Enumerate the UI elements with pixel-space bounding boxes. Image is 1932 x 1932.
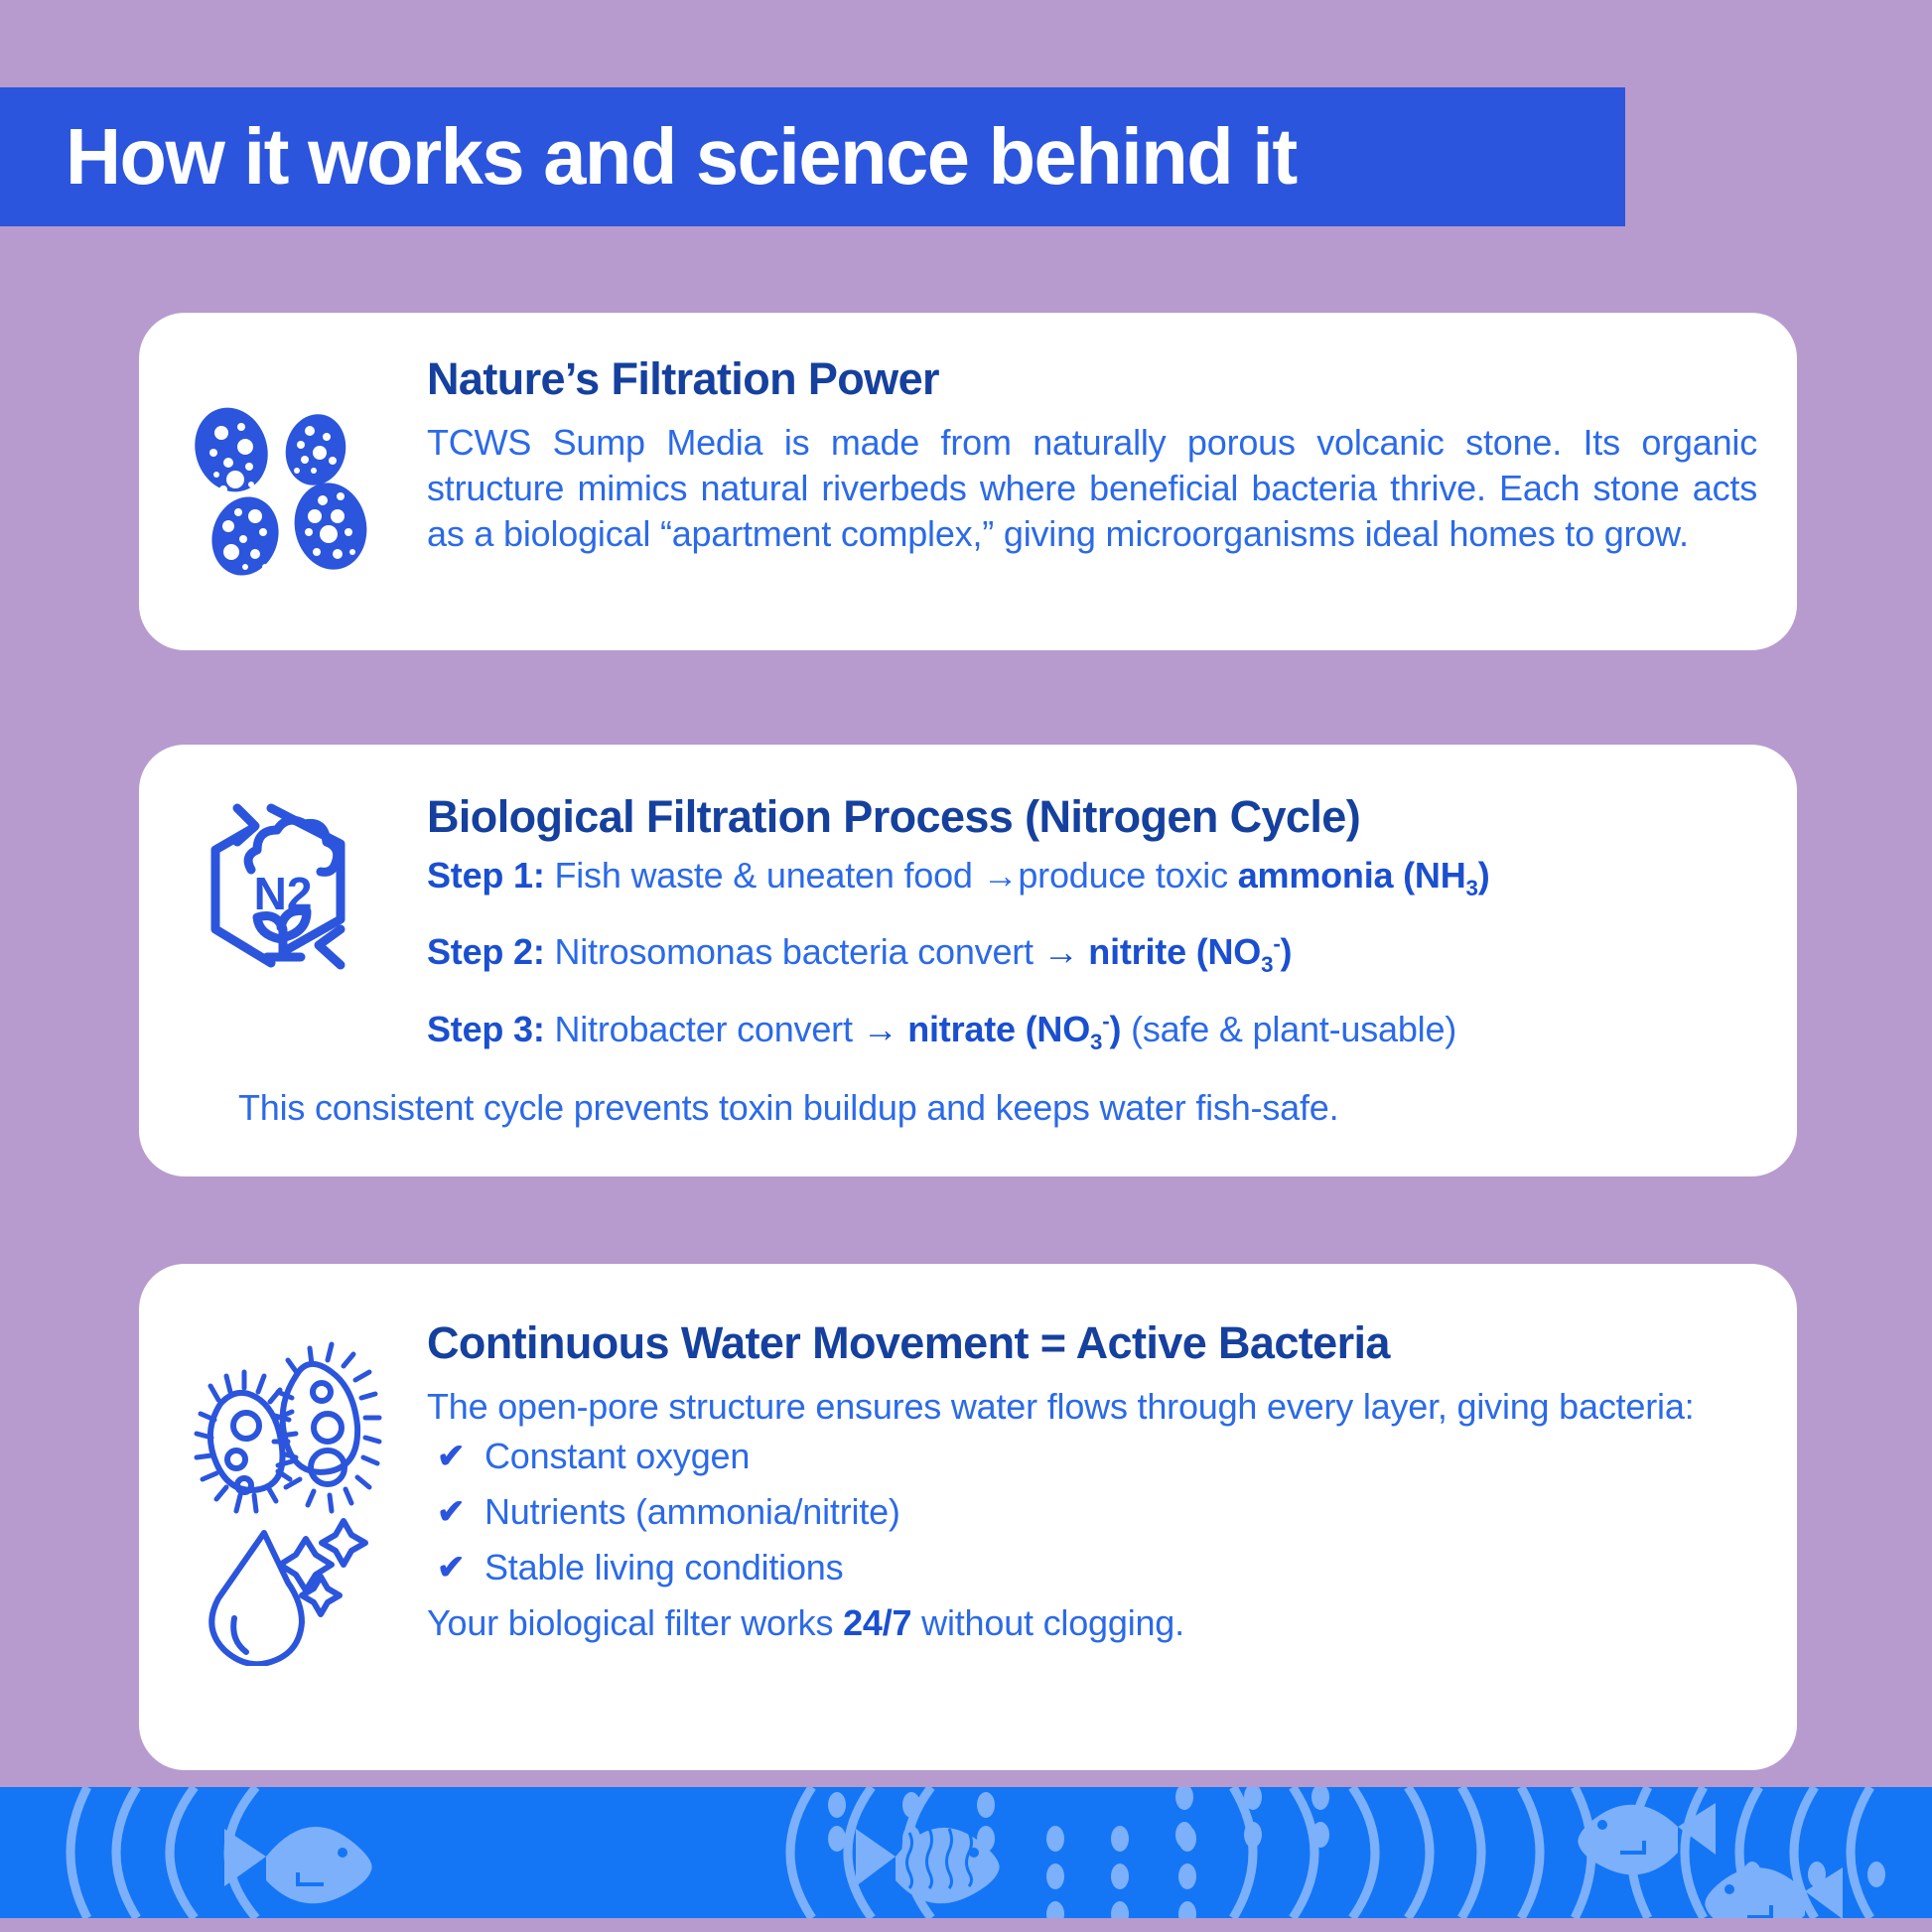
step-3-arrow-icon: → <box>863 1009 898 1049</box>
svg-text:N2: N2 <box>254 868 313 919</box>
footer-note-highlight: 24/7 <box>843 1602 911 1643</box>
card-natures-filtration-power: Nature’s Filtration Power TCWS Sump Medi… <box>139 313 1797 650</box>
list-item-label: Stable living conditions <box>484 1547 843 1588</box>
card-1-icon-column <box>139 313 427 650</box>
card-biological-filtration-process: N2 Biological Filtration Process (Nitrog… <box>139 745 1797 1176</box>
step-1-text-before: Fish waste & uneaten food <box>554 855 972 896</box>
nitrogen-cycle-hexagon-icon: N2 <box>194 792 372 986</box>
step-3-label: Step 3: <box>427 1009 545 1049</box>
card-continuous-water-movement: Continuous Water Movement = Active Bacte… <box>139 1264 1797 1770</box>
card-1-body: TCWS Sump Media is made from naturally p… <box>427 420 1757 557</box>
check-icon: ✔ <box>427 1437 484 1476</box>
card-3-heading: Continuous Water Movement = Active Bacte… <box>427 1318 1757 1368</box>
step-3-line: Step 3: Nitrobacter convert → nitrate (N… <box>427 1011 1757 1054</box>
card-2-closing-line: This consistent cycle prevents toxin bui… <box>238 1087 1757 1129</box>
benefits-list: ✔ Constant oxygen ✔ Nutrients (ammonia/n… <box>427 1436 1757 1588</box>
step-3-text-before: Nitrobacter convert <box>554 1009 852 1049</box>
step-3-chemical: nitrate (NO3-) <box>907 1009 1121 1049</box>
check-icon: ✔ <box>427 1548 484 1587</box>
list-item: ✔ Constant oxygen <box>427 1436 1757 1477</box>
decorative-fish-wave-band <box>0 1787 1932 1918</box>
list-item: ✔ Nutrients (ammonia/nitrite) <box>427 1491 1757 1533</box>
step-2-text-before: Nitrosomonas bacteria convert <box>554 931 1033 972</box>
step-1-label: Step 1: <box>427 855 545 896</box>
list-item-label: Constant oxygen <box>484 1436 750 1477</box>
step-1-chemical: ammonia (NH3) <box>1238 855 1490 896</box>
porous-volcanic-stones-icon <box>184 405 382 589</box>
card-3-icon-column <box>139 1264 427 1770</box>
page-title: How it works and science behind it <box>0 111 1297 203</box>
step-1-line: Step 1: Fish waste & uneaten food →produ… <box>427 858 1757 900</box>
card-2-heading: Biological Filtration Process (Nitrogen … <box>427 792 1757 842</box>
list-item: ✔ Stable living conditions <box>427 1547 1757 1588</box>
step-2-arrow-icon: → <box>1043 931 1079 972</box>
step-1-arrow-icon: → <box>983 855 1019 896</box>
step-3-suffix: (safe & plant-usable) <box>1131 1009 1456 1049</box>
sparkling-water-droplet-icon <box>211 1521 365 1664</box>
list-item-label: Nutrients (ammonia/nitrite) <box>484 1491 900 1533</box>
footer-note-before: Your biological filter works <box>427 1602 843 1643</box>
bacteria-microbes-icon <box>197 1344 379 1511</box>
check-icon: ✔ <box>427 1492 484 1532</box>
card-1-heading: Nature’s Filtration Power <box>427 354 1757 404</box>
page-header-band: How it works and science behind it <box>0 87 1625 226</box>
card-3-footer-note: Your biological filter works 24/7 withou… <box>427 1602 1757 1644</box>
step-2-label: Step 2: <box>427 931 545 972</box>
footer-note-after: without clogging. <box>911 1602 1184 1643</box>
card-3-body: The open-pore structure ensures water fl… <box>427 1384 1757 1430</box>
step-2-chemical: nitrite (NO3-) <box>1088 931 1292 972</box>
step-2-line: Step 2: Nitrosomonas bacteria convert → … <box>427 933 1757 977</box>
step-1-text-after: produce toxic <box>1018 855 1228 896</box>
